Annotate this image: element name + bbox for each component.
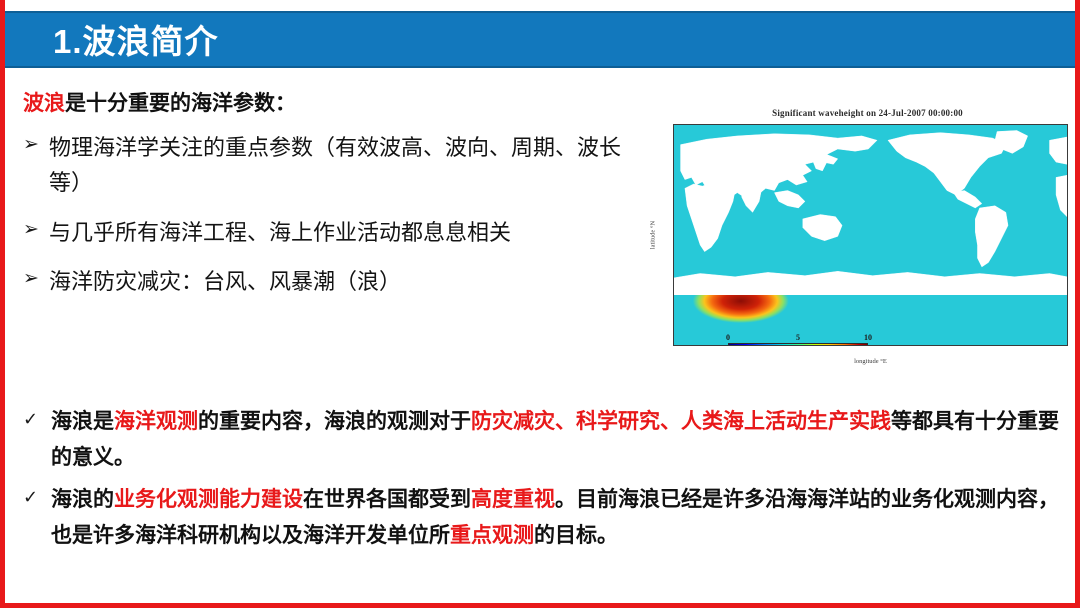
bullet-item-1: ➢ 物理海洋学关注的重点参数（有效波高、波向、周期、波长等） [23, 130, 653, 201]
lead-highlight: 波浪 [23, 92, 65, 115]
x-tick-300: 300 [997, 345, 1006, 346]
y-tick-20: 20 [673, 203, 674, 209]
check-item-2: ✓ 海浪的业务化观测能力建设在世界各国都受到高度重视。目前海浪已经是许多沿海海洋… [23, 482, 1063, 554]
africa-landmass [685, 183, 735, 252]
check-text-2: 海浪的业务化观测能力建设在世界各国都受到高度重视。目前海浪已经是许多沿海海洋站的… [51, 482, 1063, 554]
y-tick-m40: -40 [673, 288, 674, 294]
x-tick-350: 350 [1051, 345, 1060, 346]
colorbar-tick-5: 5 [796, 333, 800, 343]
central-america-landmass [953, 190, 981, 207]
plain-run: 的重要内容，海浪的观测对于 [198, 410, 471, 433]
check-icon: ✓ [23, 404, 51, 435]
y-tick-40: 40 [673, 176, 674, 182]
check-icon: ✓ [23, 482, 51, 513]
north-america-landmass [888, 133, 1006, 195]
bullet-text-1: 物理海洋学关注的重点参数（有效波高、波向、周期、波长等） [49, 130, 653, 201]
lower-text-block: ✓ 海浪是海洋观测的重要内容，海浪的观测对于防灾减灾、科学研究、人类海上活动生产… [23, 404, 1063, 560]
x-axis-label: longitude °E [673, 358, 1068, 365]
slide-title-bar: 1.波浪简介 [5, 11, 1075, 68]
colorbar-tick-10: 10 [864, 333, 872, 343]
x-tick-150: 150 [833, 345, 842, 346]
arrow-bullet-icon: ➢ [23, 130, 49, 161]
southeast-asia-landmass [774, 190, 805, 207]
x-tick-200: 200 [888, 345, 897, 346]
colorbar: 0 5 10 [728, 343, 868, 346]
australia-landmass [803, 215, 842, 241]
figure-title: Significant waveheight on 24-Jul-2007 00… [655, 108, 1080, 118]
slide: 1.波浪简介 波浪是十分重要的海洋参数： ➢ 物理海洋学关注的重点参数（有效波高… [0, 0, 1080, 608]
europe-wrap-landmass [1050, 137, 1067, 164]
colorbar-tick-0: 0 [726, 333, 730, 343]
plain-run: 海浪的 [51, 488, 114, 511]
bullet-text-3: 海洋防灾减灾：台风、风暴潮（浪） [49, 264, 653, 300]
land-masses [674, 125, 1067, 295]
antarctica-landmass [674, 271, 1067, 295]
plain-run: 海浪是 [51, 410, 114, 433]
y-tick-m20: -20 [673, 261, 674, 267]
check-item-1: ✓ 海浪是海洋观测的重要内容，海浪的观测对于防灾减灾、科学研究、人类海上活动生产… [23, 404, 1063, 476]
upper-text-block: 波浪是十分重要的海洋参数： ➢ 物理海洋学关注的重点参数（有效波高、波向、周期、… [23, 88, 653, 314]
map-plot-area: 0 5 10 60 40 20 0 -20 -40 -60 0 50 100 1… [673, 124, 1068, 346]
plain-run: 的目标。 [534, 524, 618, 547]
check-text-1: 海浪是海洋观测的重要内容，海浪的观测对于防灾减灾、科学研究、人类海上活动生产实践… [51, 404, 1063, 476]
bullet-item-3: ➢ 海洋防灾减灾：台风、风暴潮（浪） [23, 264, 653, 300]
india-landmass [742, 186, 762, 212]
highlighted-run: 高度重视 [471, 488, 555, 511]
south-america-landmass [975, 206, 1008, 267]
x-tick-50: 50 [726, 345, 732, 346]
y-tick-0: 0 [673, 232, 674, 238]
bullet-text-2: 与几乎所有海洋工程、海上作业活动都息息相关 [49, 215, 653, 251]
highlighted-run: 海洋观测 [114, 410, 198, 433]
colorbar-gradient [728, 343, 868, 346]
page-title: 1.波浪简介 [53, 15, 219, 63]
y-tick-m60: -60 [673, 317, 674, 323]
bullet-item-2: ➢ 与几乎所有海洋工程、海上作业活动都息息相关 [23, 215, 653, 251]
highlighted-run: 防灾减灾、科学研究、人类海上活动生产实践 [471, 410, 891, 433]
plain-run: 在世界各国都受到 [303, 488, 471, 511]
lead-rest: 是十分重要的海洋参数： [65, 92, 296, 115]
x-tick-100: 100 [779, 345, 788, 346]
x-tick-250: 250 [942, 345, 951, 346]
africa-wrap-landmass [1056, 175, 1067, 216]
arrow-bullet-icon: ➢ [23, 264, 49, 295]
arrow-bullet-icon: ➢ [23, 215, 49, 246]
lead-line: 波浪是十分重要的海洋参数： [23, 88, 653, 120]
x-tick-0: 0 [673, 345, 676, 346]
y-tick-60: 60 [673, 147, 674, 153]
y-axis-label: latitude °N [650, 221, 657, 249]
highlighted-run: 重点观测 [450, 524, 534, 547]
wave-height-map-figure: Significant waveheight on 24-Jul-2007 00… [655, 104, 1080, 389]
highlighted-run: 业务化观测能力建设 [114, 488, 303, 511]
